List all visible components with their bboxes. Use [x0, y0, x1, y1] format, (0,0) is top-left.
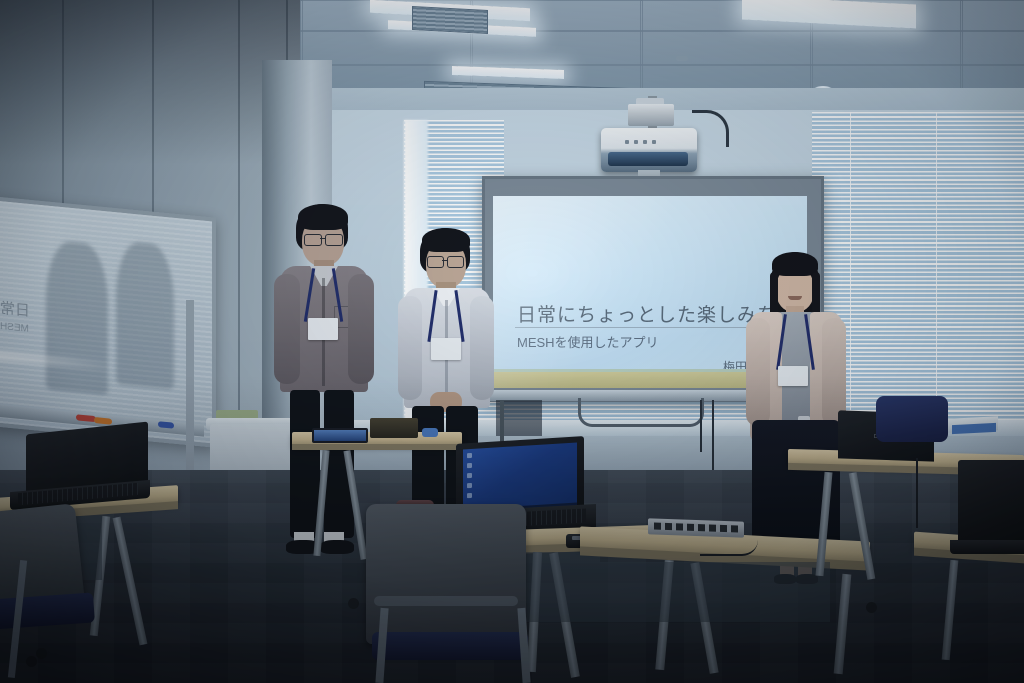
- tablet-on-desk: [312, 428, 368, 443]
- arm-left: [398, 296, 422, 400]
- chair-right-back: [876, 396, 948, 442]
- arm-right: [470, 296, 494, 400]
- chair-center-seat: [372, 632, 528, 660]
- blue-object: [422, 428, 438, 437]
- smile: [788, 296, 802, 300]
- desk-small-caster: [348, 598, 359, 609]
- arm-left: [746, 318, 770, 426]
- shoe-right: [320, 540, 354, 554]
- chair-center-lumbar: [374, 596, 518, 606]
- hanging-cable-1: [700, 400, 702, 452]
- whiteboard-stand-post: [186, 300, 194, 480]
- desk-right-back-caster: [866, 602, 877, 613]
- glasses-bridge: [320, 238, 325, 239]
- id-badge: [778, 366, 808, 386]
- hair-top: [298, 204, 348, 230]
- dark-box: [370, 418, 418, 438]
- desk-left-caster: [26, 656, 37, 667]
- desk-right-front-panel: [600, 562, 830, 622]
- chair-left-caster: [36, 648, 47, 659]
- glasses-left-lens: [304, 234, 322, 246]
- whiteboard-reflection-person-1: [46, 239, 108, 395]
- laptop-far-right-base: [950, 540, 1024, 554]
- hair-top: [422, 228, 470, 252]
- whiteboard-reflection-person-2: [116, 240, 174, 390]
- arm-left: [274, 274, 300, 384]
- chair-center-back: [366, 504, 526, 644]
- glasses-bridge: [442, 260, 447, 261]
- laptop-right-back-cable: [916, 458, 918, 528]
- screen-handle-bar: [578, 398, 704, 427]
- arm-right: [348, 274, 374, 384]
- laptop-far-right-lid: [958, 460, 1024, 546]
- projector-lens: [608, 152, 688, 166]
- hanging-cable-2: [712, 400, 714, 470]
- ceiling-air-vent: [412, 6, 488, 34]
- red-marker: [76, 414, 96, 422]
- hair-strand-right: [812, 272, 820, 316]
- glasses-left-lens: [427, 256, 444, 268]
- glasses-right-lens: [325, 234, 343, 246]
- smoke-detector: [676, 56, 688, 61]
- leg-left: [290, 390, 320, 538]
- desk-cable: [700, 540, 758, 556]
- glasses-right-lens: [447, 256, 464, 268]
- desk-small-center-edge: [292, 444, 462, 450]
- id-badge: [431, 338, 461, 360]
- meeting-room-photo: 日常にちょっとした楽しみを MESHを使用したアプリ 梅田・村田 日常 MESH: [0, 0, 1024, 683]
- hair-front: [772, 252, 818, 276]
- whiteboard-reflected-title: 日常: [0, 297, 30, 321]
- id-badge: [308, 318, 338, 340]
- orange-marker: [94, 417, 112, 425]
- blue-marker: [158, 421, 174, 429]
- projector-mount-head: [628, 104, 674, 126]
